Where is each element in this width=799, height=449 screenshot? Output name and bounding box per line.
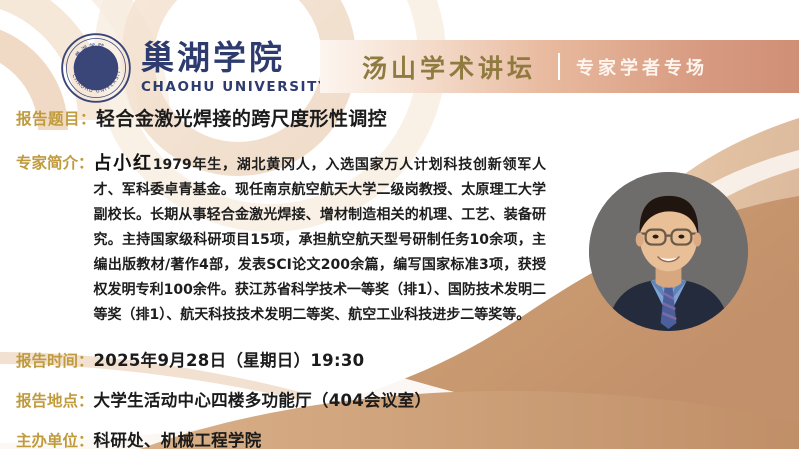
report-location-value: 大学生活动中心四楼多功能厅（404会议室） (94, 390, 432, 412)
university-name-en: CHAOHU UNIVERSITY (141, 79, 329, 95)
banner-subtitle: 专家学者专场 (576, 54, 708, 80)
meta-row-organizer: 主办单位： 科研处、机械工程学院 (16, 430, 799, 449)
speaker-bio-row: 专家简介： 占小红1979年生，湖北黄冈人，入选国家万人计划科技创新领军人才、军… (16, 151, 546, 328)
report-title-value: 轻合金激光焊接的跨尺度形性调控 (96, 108, 387, 130)
speaker-portrait-image (589, 172, 748, 331)
report-title-row: 报告题目： 轻合金激光焊接的跨尺度形性调控 (16, 108, 799, 130)
event-banner: 汤山学术讲坛 专家学者专场 (320, 40, 799, 93)
svg-text:1977: 1977 (90, 78, 103, 84)
poster-header: 1977 巢湖学院 CHAOHU UNIVERSITY 巢湖学院 CHAOHU … (0, 0, 799, 104)
event-meta: 报告时间： 2025年9月28日（星期日）19:30 报告地点： 大学生活动中心… (16, 350, 799, 449)
poster-canvas: 1977 巢湖学院 CHAOHU UNIVERSITY 巢湖学院 CHAOHU … (0, 0, 799, 449)
report-title-label: 报告题目： (16, 108, 96, 130)
speaker-bio-body: 占小红1979年生，湖北黄冈人，入选国家万人计划科技创新领军人才、军科委卓青基金… (94, 151, 546, 328)
organizer-value: 科研处、机械工程学院 (94, 430, 262, 449)
meta-row-location: 报告地点： 大学生活动中心四楼多功能厅（404会议室） (16, 390, 799, 412)
speaker-portrait (589, 172, 748, 331)
report-time-value: 2025年9月28日（星期日）19:30 (94, 350, 365, 372)
university-seal-icon: 1977 巢湖学院 CHAOHU UNIVERSITY (60, 32, 132, 104)
banner-divider (558, 53, 560, 80)
organizer-label: 主办单位： (16, 430, 94, 449)
speaker-bio-label: 专家简介： (16, 151, 94, 176)
meta-row-time: 报告时间： 2025年9月28日（星期日）19:30 (16, 350, 799, 372)
report-time-label: 报告时间： (16, 350, 94, 372)
university-logo: 1977 巢湖学院 CHAOHU UNIVERSITY 巢湖学院 CHAOHU … (60, 32, 329, 104)
speaker-bio-text: 1979年生，湖北黄冈人，入选国家万人计划科技创新领军人才、军科委卓青基金。现任… (94, 157, 546, 323)
report-location-label: 报告地点： (16, 390, 94, 412)
banner-main-title: 汤山学术讲坛 (362, 49, 536, 85)
university-name-cn: 巢湖学院 (141, 41, 329, 76)
speaker-name: 占小红 (94, 153, 153, 174)
